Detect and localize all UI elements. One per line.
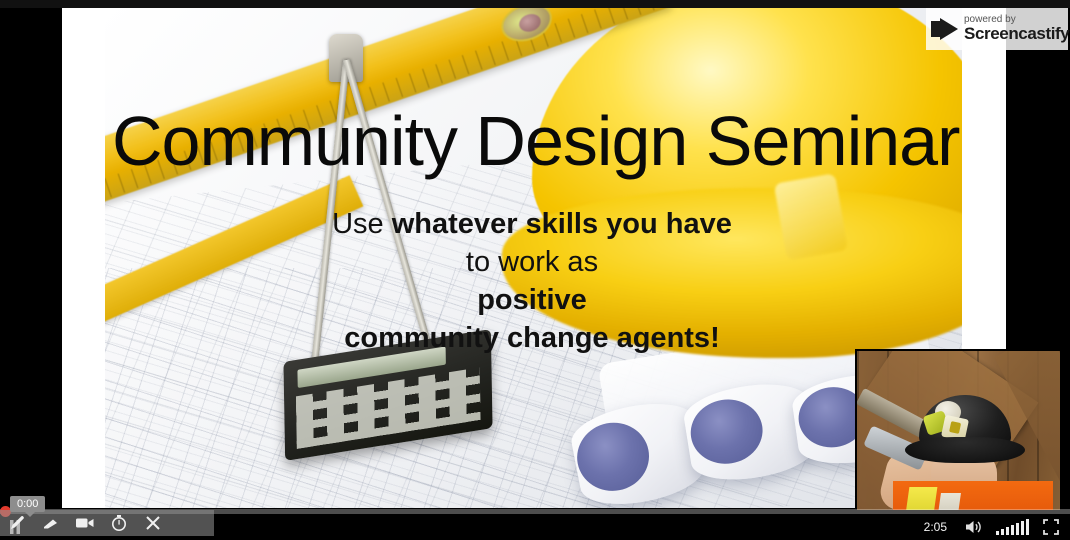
time-tooltip: 0:00 <box>10 496 45 512</box>
slide-body-text: Use whatever skills you have to work as … <box>182 206 882 358</box>
total-time-label: 2:05 <box>919 520 952 534</box>
body-line-1: Use whatever skills you have <box>182 206 882 244</box>
video-camera-icon <box>75 515 95 531</box>
fullscreen-button[interactable] <box>1036 514 1066 540</box>
body-line-1-plain: Use <box>332 208 392 240</box>
player-controls-right[interactable]: 2:05 <box>919 514 1066 540</box>
volume-slider[interactable] <box>996 519 1029 535</box>
timer-tool-button[interactable] <box>102 510 136 536</box>
close-icon <box>145 515 161 531</box>
body-line-3: positive <box>182 282 882 320</box>
close-tool-button[interactable] <box>136 510 170 536</box>
slide-title: Community Design Seminar <box>112 106 972 176</box>
player-controls[interactable]: 0:00 <box>0 508 1070 540</box>
timer-icon <box>110 514 128 532</box>
left-letterbox-bar <box>0 0 62 540</box>
volume-icon <box>965 519 983 535</box>
body-line-2: to work as <box>182 244 882 282</box>
screencastify-watermark: powered by Screencastify <box>926 8 1068 50</box>
volume-button[interactable] <box>959 514 989 540</box>
fullscreen-icon <box>1043 519 1059 535</box>
body-line-1-bold: whatever skills you have <box>392 208 732 240</box>
top-letterbox-strip <box>0 0 1070 8</box>
webcam-right-edge <box>1060 351 1070 510</box>
video-player[interactable]: Community Design Seminar Use whatever sk… <box>0 0 1070 540</box>
highlighter-icon <box>42 514 60 532</box>
hard-hat-brim <box>905 437 1025 463</box>
screencastify-logo-icon <box>931 17 959 41</box>
webcam-tool-button[interactable] <box>68 510 102 536</box>
body-line-4: community change agents! <box>182 320 882 358</box>
watermark-brand: Screencastify <box>964 25 1069 43</box>
highlighter-tool-button[interactable] <box>34 510 68 536</box>
webcam-overlay[interactable] <box>855 349 1070 510</box>
vest-stripe <box>905 487 938 510</box>
